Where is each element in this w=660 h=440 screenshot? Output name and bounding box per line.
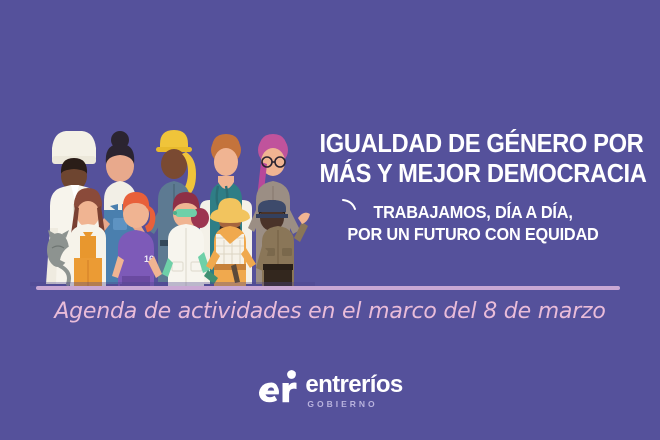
agenda-script-line: Agenda de actividades en el marco del 8 … [0,299,660,324]
subtitle-line-2: POR UN FUTURO CON EQUIDAD [320,223,627,245]
horizontal-divider [36,286,620,290]
er-monogram-icon [257,366,301,408]
headline-line-2: MÁS Y MEJOR DEMOCRACIA [320,160,627,190]
group-of-women-professions-illustration: 16 [30,78,315,290]
logo-subtitle: GOBIERNO [307,400,402,409]
entrerios-gobierno-logo: entreríos GOBIERNO [0,366,660,409]
safety-goggles-icon [173,209,197,217]
uniformed-officer-woman [256,200,310,286]
subtitle-line-1: TRABAJAMOS, DÍA A DÍA, [320,201,627,223]
subtitle-block: TRABAJAMOS, DÍA A DÍA, POR UN FUTURO CON… [308,201,638,245]
poster-text-block: IGUALDAD DE GÉNERO POR MÁS Y MEJOR DEMOC… [308,130,638,245]
logo-wordmark: entreríos [305,373,402,397]
poster-canvas: 16 [0,0,660,440]
headline-line-1: IGUALDAD DE GÉNERO POR [320,130,627,160]
